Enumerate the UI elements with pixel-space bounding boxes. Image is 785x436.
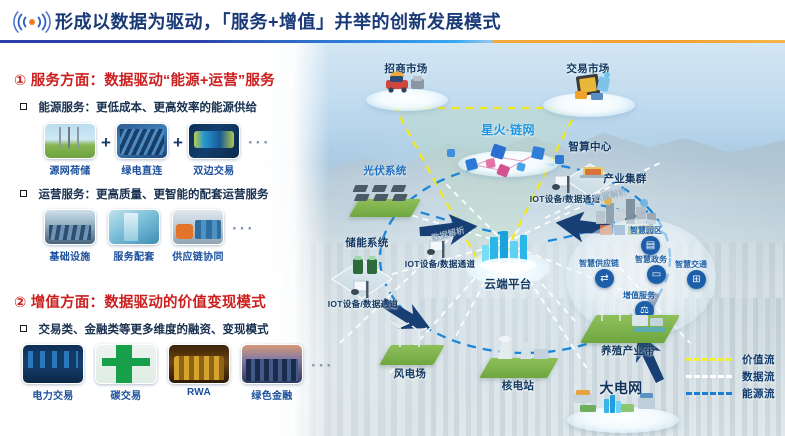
smart-label-supplychain: 智慧供应链: [579, 258, 619, 269]
node-label: 云端平台: [465, 276, 551, 292]
bullet-2: 运营服务：更高质量、更智能的配套运营服务: [20, 185, 268, 203]
bullet-1: 能源服务：更低成本、更高效率的能源供给: [20, 98, 257, 116]
legend-label-data: 数据流: [742, 369, 775, 384]
trading-screen-icon: [565, 71, 615, 103]
thumb-caption: RWA: [168, 387, 230, 398]
thumb-image-carbon-trading: [95, 344, 157, 384]
page-header: 形成以数据为驱动，「服务+增值」并举的创新发展模式: [0, 0, 785, 40]
thumb-image-supplychain: [172, 209, 224, 245]
node-farming-belt[interactable]: 养殖产业带: [578, 343, 678, 358]
section-number-1: ①: [14, 73, 26, 89]
document-icon[interactable]: ▤: [641, 236, 660, 255]
node-computing-center[interactable]: 智算中心: [545, 139, 635, 154]
thumb-item[interactable]: 供应链协同: [172, 209, 224, 263]
thumb-image-green-finance: [241, 344, 303, 384]
thumb-item[interactable]: 基础设施: [44, 209, 96, 263]
thumb-caption: 基础设施: [44, 248, 96, 263]
node-label: 产业集群: [580, 171, 670, 186]
legend-swatch-data: [686, 375, 732, 378]
node-cloud-platform[interactable]: 云端平台: [465, 276, 551, 292]
thumb-item[interactable]: 服务配套: [108, 209, 160, 263]
bullet-square-icon: [20, 190, 27, 197]
section-heading-2: ② 增值方面：数据驱动的价值变现模式: [14, 291, 266, 312]
thumb-caption: 双边交易: [188, 162, 240, 177]
thumb-item[interactable]: 电力交易: [22, 344, 84, 402]
section-heading-1: ① 服务方面：数据驱动“能源+运营”服务: [14, 69, 275, 90]
legend-label-energy: 能源流: [742, 386, 775, 401]
bullet-square-icon: [20, 325, 27, 332]
page-title: 形成以数据为驱动，「服务+增值」并举的创新发展模式: [55, 8, 501, 34]
thumb-image-infrastructure: [44, 209, 96, 245]
traffic-grid-icon[interactable]: ⊞: [687, 270, 706, 289]
thumb-caption: 绿色金融: [241, 387, 303, 402]
bullet-text-1: 能源服务：更低成本、更高效率的能源供给: [38, 102, 257, 114]
thumb-group-3: 电力交易 碳交易 RWA 绿色金融 ···: [22, 344, 334, 402]
thumb-caption: 源网荷储: [44, 162, 96, 177]
iot-antenna-icon: [348, 278, 374, 300]
smart-label-government: 智慧政务: [635, 254, 667, 265]
thumb-image-power-trading: [22, 344, 84, 384]
iot-antenna-icon: [549, 173, 575, 195]
thumb-caption: 供应链协同: [172, 248, 224, 263]
power-grid-icon: [562, 383, 682, 421]
legend-swatch-energy: [686, 392, 732, 395]
thumb-image-trade: [188, 123, 240, 159]
node-storage-system[interactable]: 储能系统: [322, 235, 412, 250]
thumb-group-2: 基础设施 服务配套 供应链协同 ···: [44, 209, 255, 263]
thumb-item[interactable]: 绿电直连: [116, 123, 168, 177]
legend-row-data: 数据流: [686, 368, 775, 385]
legend-row-energy: 能源流: [686, 385, 775, 402]
left-content-column: ① 服务方面：数据驱动“能源+运营”服务 能源服务：更低成本、更高效率的能源供给…: [0, 43, 345, 436]
node-label: 风电场: [370, 366, 450, 381]
thumb-caption: 电力交易: [22, 387, 84, 402]
ecosystem-diagram: 招商市场 交易市场 星火·链网: [330, 43, 785, 436]
thumb-caption: 碳交易: [95, 387, 157, 402]
market-car-icon: [382, 70, 428, 98]
section-number-2: ②: [14, 295, 26, 311]
thumb-item[interactable]: 碳交易: [95, 344, 157, 402]
cooling-towers-icon: [482, 331, 554, 365]
bullet-3: 交易类、金融类等更多维度的融资、变现模式: [20, 320, 268, 338]
node-pv-system[interactable]: 光伏系统: [340, 163, 430, 178]
bullet-text-2: 运营服务：更高质量、更智能的配套运营服务: [38, 189, 268, 201]
plus-separator: +: [101, 133, 111, 167]
thumb-image-solar: [116, 123, 168, 159]
section-title-1: 服务方面：数据驱动“能源+运营”服务: [31, 73, 275, 89]
legend-row-value: 价值流: [686, 351, 775, 368]
farming-industry-icon: [588, 295, 674, 339]
battery-icon: [346, 251, 388, 281]
share-network-icon[interactable]: ⇄: [595, 269, 614, 288]
legend: 价值流 数据流 能源流: [686, 351, 775, 402]
broadcast-signal-icon: [12, 11, 52, 33]
node-label: 储能系统: [322, 235, 412, 250]
thumb-group-1: 源网荷储 + 绿电直连 + 双边交易 ···: [44, 123, 271, 177]
thumb-item[interactable]: 双边交易: [188, 123, 240, 177]
thumb-item[interactable]: RWA: [168, 344, 230, 398]
smart-label-park: 智慧园区: [630, 225, 662, 236]
plus-separator: +: [173, 133, 183, 167]
bank-building-icon[interactable]: ▭: [647, 265, 666, 284]
more-ellipsis: ···: [232, 219, 255, 253]
node-label: 核电站: [478, 378, 558, 393]
node-label: 养殖产业带: [578, 343, 678, 358]
thumb-image-grid: [44, 123, 96, 159]
bullet-text-3: 交易类、金融类等更多维度的融资、变现模式: [38, 324, 268, 336]
thumb-item[interactable]: 源网荷储: [44, 123, 96, 177]
thumb-caption: 服务配套: [108, 248, 160, 263]
node-industry-cluster[interactable]: 产业集群: [580, 171, 670, 186]
section-title-2: 增值方面：数据驱动的价值变现模式: [31, 295, 266, 311]
solar-panels-icon: [352, 181, 418, 207]
node-nuclear-plant[interactable]: 核电站: [478, 378, 558, 393]
thumb-image-services: [108, 209, 160, 245]
thumb-image-rwa: [168, 344, 230, 384]
legend-label-value: 价值流: [742, 352, 775, 367]
node-wind-farm[interactable]: 风电场: [370, 366, 450, 381]
legend-swatch-value: [686, 358, 732, 361]
wind-turbine-icon: [388, 321, 436, 355]
header-divider: [0, 40, 785, 43]
smart-label-traffic: 智慧交通: [675, 259, 707, 270]
thumb-caption: 绿电直连: [116, 162, 168, 177]
bullet-square-icon: [20, 103, 27, 110]
more-ellipsis: ···: [248, 133, 271, 167]
node-label: 智算中心: [545, 139, 635, 154]
thumb-item[interactable]: 绿色金融: [241, 344, 303, 402]
node-label: 光伏系统: [340, 163, 430, 178]
